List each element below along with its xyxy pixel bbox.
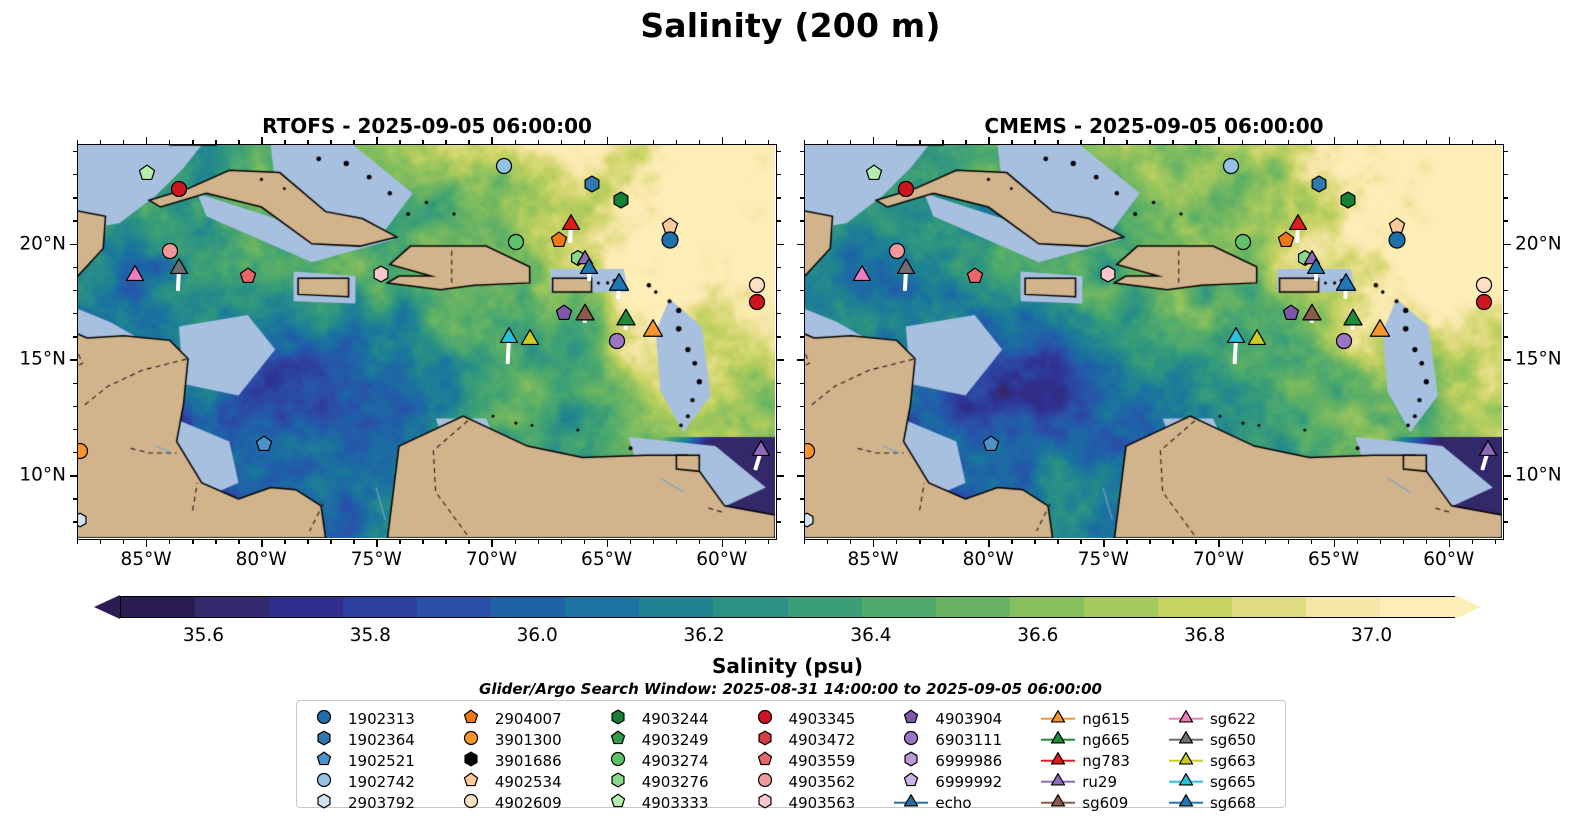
x-tick-label: 75°W — [351, 549, 402, 570]
x-minor-tick — [192, 540, 193, 544]
legend-swatch-4903559 — [748, 751, 782, 770]
x-minor-tick — [169, 540, 170, 544]
y-minor-tick — [777, 429, 781, 430]
x-tick — [873, 137, 874, 144]
x-minor-tick — [100, 140, 101, 144]
x-minor-tick — [584, 540, 585, 544]
x-tick — [491, 137, 492, 144]
triangle-icon — [1178, 709, 1193, 728]
x-tick — [1334, 540, 1335, 547]
legend-entry-4903249[interactable]: 4903249 — [601, 729, 728, 750]
x-minor-tick — [965, 140, 966, 144]
x-minor-tick — [561, 540, 562, 544]
y-tick — [1504, 359, 1511, 360]
x-minor-tick — [1242, 540, 1243, 544]
pentagon-icon — [317, 751, 332, 770]
colorbar-segment — [195, 597, 270, 617]
x-minor-tick — [1195, 540, 1196, 544]
circle-icon — [610, 751, 625, 770]
x-minor-tick — [1495, 140, 1496, 144]
legend-entry-4903274[interactable]: 4903274 — [601, 750, 728, 771]
y-minor-tick — [777, 406, 781, 407]
legend-swatch-1902364 — [307, 730, 341, 749]
colorbar-tick-label: 35.8 — [350, 625, 391, 646]
pentagon-icon — [610, 793, 625, 812]
x-minor-tick — [538, 540, 539, 544]
y-tick-label: 15°N — [1515, 349, 1562, 370]
x-minor-tick — [1380, 540, 1381, 544]
legend-label: 4903559 — [789, 752, 856, 770]
legend-swatch-6903111 — [894, 730, 928, 749]
legend-entry-1902521[interactable]: 1902521 — [307, 750, 434, 771]
x-tick — [873, 540, 874, 547]
x-minor-tick — [330, 540, 331, 544]
y-minor-tick — [800, 521, 804, 522]
legend-label: 1902313 — [348, 710, 415, 728]
circle-icon — [317, 709, 332, 728]
x-minor-tick — [123, 140, 124, 144]
legend-label: 1902364 — [348, 731, 415, 749]
legend-swatch-1902521 — [307, 751, 341, 770]
colorbar-segment — [639, 597, 714, 617]
y-minor-tick — [73, 383, 77, 384]
legend-entry-4903562[interactable]: 4903562 — [748, 771, 875, 792]
panel-title-cmems: CMEMS - 2025-09-05 06:00:00 — [804, 114, 1504, 138]
legend-swatch-4903244 — [601, 709, 635, 728]
legend-entry-4903472[interactable]: 4903472 — [748, 729, 875, 750]
glider-track-echo — [1314, 269, 1318, 281]
legend-swatch-6999992 — [894, 772, 928, 791]
pentagon-icon — [904, 709, 919, 728]
x-minor-tick — [919, 540, 920, 544]
colorbar-tick-label: 36.6 — [1017, 625, 1058, 646]
y-minor-tick — [1504, 336, 1508, 337]
glider-track-sg609 — [1309, 315, 1313, 323]
y-minor-tick — [777, 521, 781, 522]
x-minor-tick — [1126, 540, 1127, 544]
legend-label: 4903562 — [789, 773, 856, 791]
legend-caption: Glider/Argo Search Window: 2025-08-31 14… — [0, 680, 1581, 698]
legend-entry-4902534[interactable]: 4902534 — [454, 771, 581, 792]
legend-entry-sg665[interactable]: sg665 — [1169, 771, 1275, 792]
y-minor-tick — [800, 452, 804, 453]
colorbar-segment — [788, 597, 863, 617]
legend-swatch-4903345 — [748, 709, 782, 728]
y-minor-tick — [73, 197, 77, 198]
colorbar-segment — [713, 597, 788, 617]
x-minor-tick — [699, 140, 700, 144]
y-minor-tick — [800, 498, 804, 499]
x-minor-tick — [965, 540, 966, 544]
x-tick — [1218, 540, 1219, 547]
y-minor-tick — [73, 406, 77, 407]
map-frame-rtofs — [77, 144, 777, 540]
colorbar-extend-left — [94, 595, 120, 619]
colorbar-segment — [565, 597, 640, 617]
colorbar-segment — [862, 597, 937, 617]
colorbar-segment — [417, 597, 492, 617]
colorbar-segment — [491, 597, 566, 617]
x-tick — [722, 540, 723, 547]
legend-swatch-4903904 — [894, 709, 928, 728]
x-tick — [607, 540, 608, 547]
x-minor-tick — [699, 540, 700, 544]
x-tick — [376, 540, 377, 547]
legend-entry-4903904[interactable]: 4903904 — [894, 708, 1021, 729]
y-tick — [1504, 475, 1511, 476]
triangle-icon — [1051, 751, 1066, 770]
legend-label: 1902521 — [348, 752, 415, 770]
legend-label: 6999986 — [935, 752, 1002, 770]
legend-entry-4903345[interactable]: 4903345 — [748, 708, 875, 729]
y-tick-label: 20°N — [1515, 233, 1562, 254]
y-minor-tick — [777, 290, 781, 291]
y-tick — [797, 475, 804, 476]
hexagon-icon — [757, 730, 772, 749]
x-minor-tick — [1357, 540, 1358, 544]
x-minor-tick — [768, 540, 769, 544]
y-minor-tick — [73, 174, 77, 175]
x-minor-tick — [1426, 140, 1427, 144]
x-minor-tick — [850, 540, 851, 544]
legend-swatch-sg665 — [1169, 772, 1203, 791]
colorbar-tick-label: 37.0 — [1351, 625, 1392, 646]
x-minor-tick — [1034, 540, 1035, 544]
legend-swatch-ru29 — [1041, 772, 1075, 791]
x-tick-label: 65°W — [1308, 549, 1359, 570]
y-minor-tick — [800, 313, 804, 314]
glider-track-ng665 — [1350, 320, 1355, 330]
x-minor-tick — [561, 140, 562, 144]
colorbar-tick-label: 36.0 — [517, 625, 558, 646]
legend-swatch-sg622 — [1169, 709, 1203, 728]
y-tick — [797, 359, 804, 360]
triangle-icon — [1178, 730, 1193, 749]
legend-entry-4902609[interactable]: 4902609 — [454, 792, 581, 813]
colorbar-segment — [1158, 597, 1233, 617]
x-minor-tick — [1242, 140, 1243, 144]
y-minor-tick — [777, 220, 781, 221]
hexagon-icon — [757, 793, 772, 812]
y-tick-label: 20°N — [19, 233, 66, 254]
legend-label: 4903563 — [789, 794, 856, 812]
colorbar-gradient — [120, 596, 1455, 618]
triangle-icon — [1051, 709, 1066, 728]
y-tick — [777, 475, 784, 476]
legend-swatch-4903276 — [601, 772, 635, 791]
y-minor-tick — [777, 174, 781, 175]
x-minor-tick — [827, 540, 828, 544]
y-minor-tick — [1504, 151, 1508, 152]
x-tick — [988, 540, 989, 547]
colorbar: Salinity (psu) 35.635.836.036.236.436.63… — [120, 596, 1455, 618]
legend-entry-ng783[interactable]: ng783 — [1041, 750, 1149, 771]
legend-entry-6903111[interactable]: 6903111 — [894, 729, 1021, 750]
x-tick — [1218, 137, 1219, 144]
y-minor-tick — [1504, 521, 1508, 522]
x-minor-tick — [422, 140, 423, 144]
x-tick — [146, 540, 147, 547]
y-minor-tick — [73, 313, 77, 314]
x-tick-label: 80°W — [963, 549, 1014, 570]
legend-label: echo — [935, 794, 971, 812]
colorbar-tick-label: 36.4 — [850, 625, 891, 646]
legend-swatch-4902534 — [454, 772, 488, 791]
x-tick — [491, 540, 492, 547]
legend-entry-2904007[interactable]: 2904007 — [454, 708, 581, 729]
legend-label: 3901300 — [495, 731, 562, 749]
figure-root: Salinity (200 m) RTOFS - 2025-09-05 06:0… — [0, 0, 1581, 829]
y-minor-tick — [777, 383, 781, 384]
pentagon-icon — [463, 772, 478, 791]
colorbar-segment — [269, 597, 344, 617]
y-minor-tick — [777, 336, 781, 337]
glider-track-sg609 — [582, 315, 586, 323]
x-minor-tick — [353, 140, 354, 144]
x-tick — [607, 137, 608, 144]
legend-box: 1902313190236419025211902742290379229040… — [296, 700, 1286, 808]
x-minor-tick — [1057, 140, 1058, 144]
legend-label: 2903792 — [348, 794, 415, 812]
legend-label: 4903345 — [789, 710, 856, 728]
x-minor-tick — [307, 540, 308, 544]
legend-label: 4903249 — [642, 731, 709, 749]
x-minor-tick — [1311, 140, 1312, 144]
y-tick — [70, 359, 77, 360]
figure-title: Salinity (200 m) — [0, 6, 1581, 45]
pentagon-icon — [610, 730, 625, 749]
x-tick — [1449, 137, 1450, 144]
legend-swatch-4903472 — [748, 730, 782, 749]
x-minor-tick — [399, 140, 400, 144]
panel-title-rtofs: RTOFS - 2025-09-05 06:00:00 — [77, 114, 777, 138]
map-panel-cmems: CMEMS - 2025-09-05 06:00:0085°W80°W75°W7… — [804, 144, 1504, 540]
legend-swatch-4903333 — [601, 793, 635, 812]
x-minor-tick — [307, 140, 308, 144]
x-minor-tick — [1149, 540, 1150, 544]
legend-entry-6999986[interactable]: 6999986 — [894, 750, 1021, 771]
x-minor-tick — [896, 540, 897, 544]
y-minor-tick — [800, 174, 804, 175]
glider-track-sg668 — [1343, 285, 1348, 299]
y-tick — [1504, 244, 1511, 245]
legend-entry-4903276[interactable]: 4903276 — [601, 771, 728, 792]
legend-label: sg665 — [1210, 773, 1256, 791]
colorbar-segment — [121, 597, 196, 617]
x-minor-tick — [942, 540, 943, 544]
x-tick-label: 60°W — [696, 549, 747, 570]
y-minor-tick — [800, 290, 804, 291]
legend-swatch-echo — [894, 793, 928, 812]
legend-swatch-3901300 — [454, 730, 488, 749]
circle-icon — [463, 730, 478, 749]
y-tick — [70, 244, 77, 245]
colorbar-tick-label: 36.8 — [1184, 625, 1225, 646]
y-minor-tick — [1504, 313, 1508, 314]
circle-icon — [757, 772, 772, 791]
x-minor-tick — [676, 140, 677, 144]
x-minor-tick — [538, 140, 539, 144]
x-minor-tick — [77, 540, 78, 544]
y-tick — [777, 244, 784, 245]
legend-swatch-3901686 — [454, 751, 488, 770]
y-minor-tick — [777, 452, 781, 453]
legend-entry-3901686[interactable]: 3901686 — [454, 750, 581, 771]
legend-swatch-6999986 — [894, 751, 928, 770]
y-minor-tick — [800, 151, 804, 152]
legend-label: 4903904 — [935, 710, 1002, 728]
colorbar-segment — [1084, 597, 1159, 617]
y-minor-tick — [777, 197, 781, 198]
x-minor-tick — [1472, 540, 1473, 544]
x-minor-tick — [1265, 540, 1266, 544]
x-minor-tick — [804, 540, 805, 544]
legend-entry-sg622[interactable]: sg622 — [1169, 708, 1275, 729]
legend-label: ng783 — [1082, 752, 1130, 770]
legend-entry-4903244[interactable]: 4903244 — [601, 708, 728, 729]
x-minor-tick — [1195, 140, 1196, 144]
circle-icon — [904, 730, 919, 749]
hexagon-icon — [904, 751, 919, 770]
x-minor-tick — [1472, 140, 1473, 144]
colorbar-segment — [343, 597, 418, 617]
legend-swatch-4902609 — [454, 793, 488, 812]
x-minor-tick — [123, 540, 124, 544]
x-minor-tick — [1126, 140, 1127, 144]
legend-entry-sg650[interactable]: sg650 — [1169, 729, 1275, 750]
x-tick — [376, 137, 377, 144]
hexagon-icon — [463, 751, 478, 770]
y-minor-tick — [1504, 290, 1508, 291]
map-frame-cmems — [804, 144, 1504, 540]
x-minor-tick — [1034, 140, 1035, 144]
legend-entry-3901300[interactable]: 3901300 — [454, 729, 581, 750]
x-tick — [1103, 137, 1104, 144]
x-minor-tick — [422, 540, 423, 544]
legend-label: 4903276 — [642, 773, 709, 791]
legend-entry-1902313[interactable]: 1902313 — [307, 708, 434, 729]
legend-entry-ng665[interactable]: ng665 — [1041, 729, 1149, 750]
salinity-field-cmems — [805, 145, 1502, 538]
legend-entry-1902742[interactable]: 1902742 — [307, 771, 434, 792]
hexagon-icon — [317, 793, 332, 812]
y-tick-label: 15°N — [19, 349, 66, 370]
x-minor-tick — [1426, 540, 1427, 544]
pentagon-icon — [463, 709, 478, 728]
legend-label: 4903472 — [789, 731, 856, 749]
y-minor-tick — [800, 429, 804, 430]
y-tick — [797, 244, 804, 245]
y-minor-tick — [73, 521, 77, 522]
legend-entry-ng615[interactable]: ng615 — [1041, 708, 1149, 729]
x-minor-tick — [1403, 140, 1404, 144]
triangle-icon — [1051, 793, 1066, 812]
x-minor-tick — [1011, 540, 1012, 544]
colorbar-segment — [1380, 597, 1455, 617]
colorbar-segment — [936, 597, 1011, 617]
y-minor-tick — [800, 220, 804, 221]
legend-label: 4903333 — [642, 794, 709, 812]
x-tick-label: 80°W — [236, 549, 287, 570]
legend-entry-6999992[interactable]: 6999992 — [894, 771, 1021, 792]
y-minor-tick — [1504, 174, 1508, 175]
x-tick-label: 70°W — [1193, 549, 1244, 570]
y-minor-tick — [777, 151, 781, 152]
hexagon-icon — [317, 730, 332, 749]
colorbar-tick-label: 35.6 — [183, 625, 224, 646]
legend-entry-1902364[interactable]: 1902364 — [307, 729, 434, 750]
x-minor-tick — [896, 140, 897, 144]
triangle-icon — [1178, 772, 1193, 791]
legend-label: 6903111 — [935, 731, 1002, 749]
y-minor-tick — [73, 336, 77, 337]
x-minor-tick — [445, 140, 446, 144]
legend-entry-2903792[interactable]: 2903792 — [307, 792, 434, 813]
x-minor-tick — [584, 140, 585, 144]
x-minor-tick — [238, 140, 239, 144]
legend-label: ng615 — [1082, 710, 1130, 728]
x-tick-label: 65°W — [581, 549, 632, 570]
legend-label: sg650 — [1210, 731, 1256, 749]
y-minor-tick — [1504, 267, 1508, 268]
y-minor-tick — [800, 336, 804, 337]
legend-entry-sg668[interactable]: sg668 — [1169, 792, 1275, 813]
y-tick — [777, 359, 784, 360]
x-minor-tick — [1380, 140, 1381, 144]
legend-entry-sg663[interactable]: sg663 — [1169, 750, 1275, 771]
x-minor-tick — [676, 540, 677, 544]
y-minor-tick — [1504, 406, 1508, 407]
y-minor-tick — [1504, 498, 1508, 499]
x-minor-tick — [515, 140, 516, 144]
x-tick-label: 70°W — [466, 549, 517, 570]
x-minor-tick — [919, 140, 920, 144]
glider-track-sg668 — [616, 285, 621, 299]
x-minor-tick — [284, 140, 285, 144]
legend-entry-ru29[interactable]: ru29 — [1041, 771, 1149, 792]
x-minor-tick — [192, 140, 193, 144]
y-minor-tick — [1504, 429, 1508, 430]
x-minor-tick — [100, 540, 101, 544]
circle-icon — [463, 793, 478, 812]
x-minor-tick — [653, 140, 654, 144]
legend-entry-4903559[interactable]: 4903559 — [748, 750, 875, 771]
x-minor-tick — [468, 140, 469, 144]
legend-entry-echo[interactable]: echo — [894, 792, 1021, 813]
legend-label: 4903274 — [642, 752, 709, 770]
x-tick — [722, 137, 723, 144]
legend-label: 3901686 — [495, 752, 562, 770]
legend-entry-4903333[interactable]: 4903333 — [601, 792, 728, 813]
y-minor-tick — [73, 452, 77, 453]
circle-icon — [317, 772, 332, 791]
x-minor-tick — [1172, 540, 1173, 544]
y-minor-tick — [800, 383, 804, 384]
x-minor-tick — [630, 540, 631, 544]
x-minor-tick — [1495, 540, 1496, 544]
x-tick-label: 85°W — [121, 549, 172, 570]
y-minor-tick — [800, 406, 804, 407]
y-minor-tick — [777, 498, 781, 499]
x-minor-tick — [169, 140, 170, 144]
x-tick-label: 60°W — [1423, 549, 1474, 570]
x-minor-tick — [1288, 540, 1289, 544]
legend-entry-4903563[interactable]: 4903563 — [748, 792, 875, 813]
x-minor-tick — [215, 140, 216, 144]
legend-entry-sg609[interactable]: sg609 — [1041, 792, 1149, 813]
x-minor-tick — [768, 140, 769, 144]
x-tick — [146, 137, 147, 144]
